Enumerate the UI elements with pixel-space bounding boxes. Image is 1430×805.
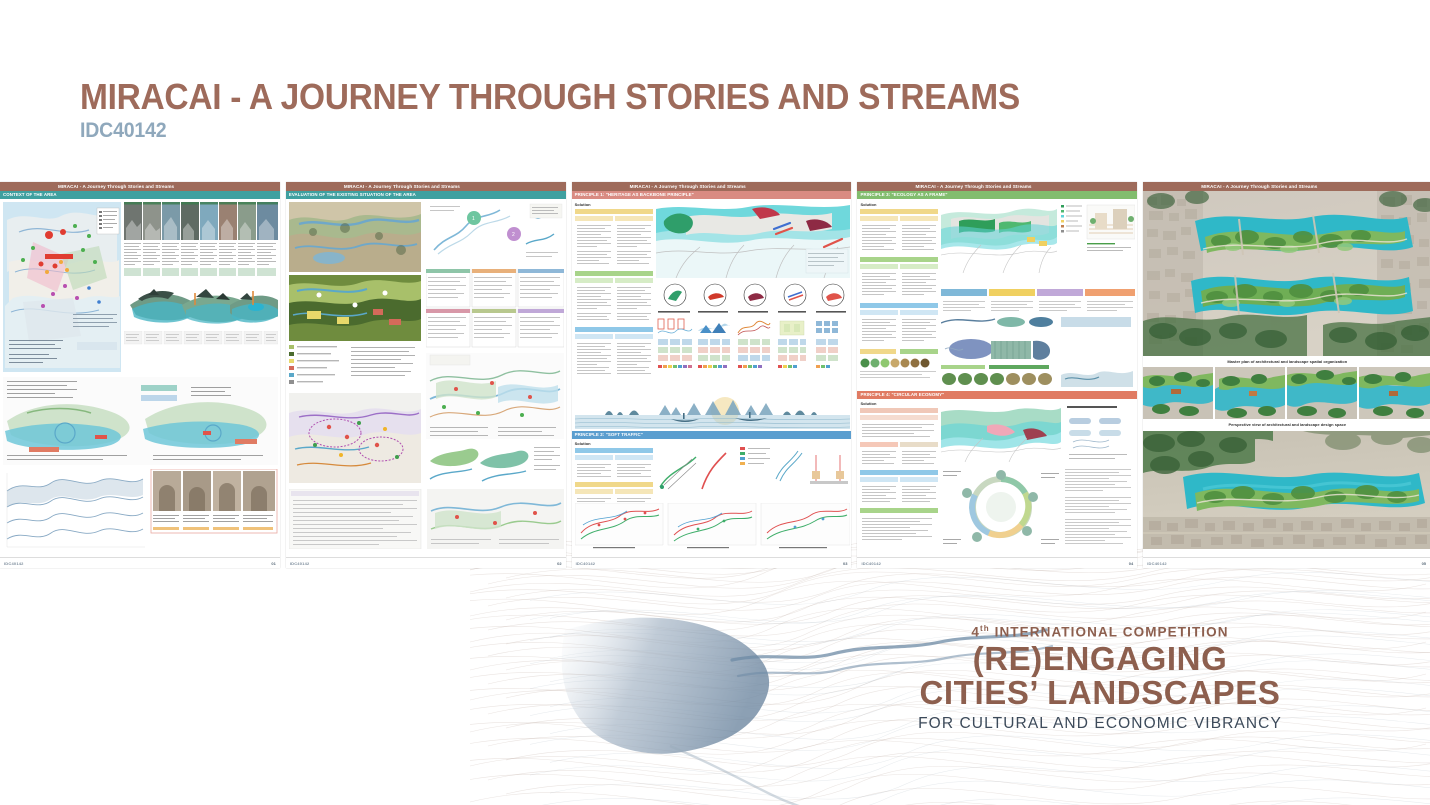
board-footer: IDC40142 03 — [572, 557, 852, 568]
masterplan-caption: Master plan of architectural and landsca… — [1143, 358, 1430, 366]
solution-label-p1: Solution — [575, 202, 591, 207]
svg-text:1: 1 — [472, 216, 475, 222]
board-header-title: MIRACAI - A Journey Through Stories and … — [857, 182, 1137, 191]
board-panel-03[interactable]: MIRACAI - A Journey Through Stories and … — [572, 182, 852, 568]
page-title: MIRACAI - A JOURNEY THROUGH STORIES AND … — [80, 78, 1196, 116]
competition-brand-lockup: 4th INTERNATIONAL COMPETITION (RE)ENGAGI… — [900, 624, 1300, 733]
brand-title-line-1: (RE)ENGAGING — [900, 642, 1300, 677]
section-bar-principle-3: PRINCIPLE 3: "ECOLOGY AS A FRAME" — [857, 191, 1137, 199]
evaluation-matrix-and-detail-map — [289, 489, 564, 549]
board-footer: IDC40142 05 — [1143, 557, 1430, 568]
competition-boards-strip: MIRACAI - A Journey Through Stories and … — [0, 182, 1430, 568]
principle-3-solution-column — [860, 209, 938, 387]
diagram-caption-boxes — [124, 331, 278, 345]
brand-tagline: FOR CULTURAL AND ECONOMIC VIBRANCY — [900, 715, 1300, 733]
board-panel-02[interactable]: MIRACAI - A Journey Through Stories and … — [286, 182, 566, 568]
footer-page-number: 05 — [1422, 561, 1426, 566]
site-section-diagrams — [3, 377, 278, 465]
competition-ordinal-suffix: th — [980, 624, 990, 633]
board-body: PRINCIPLE 1: "HERITAGE AS BACKBONE PRINC… — [572, 191, 852, 557]
board-body: PRINCIPLE 3: "ECOLOGY AS A FRAME" Soluti… — [857, 191, 1137, 557]
board-panel-01[interactable]: MIRACAI - A Journey Through Stories and … — [0, 182, 280, 568]
heritage-subdiagrams-grid — [656, 311, 850, 389]
footer-page-number: 02 — [557, 561, 561, 566]
context-text-columns — [124, 243, 278, 277]
footer-page-number: 03 — [843, 561, 847, 566]
analysis-map-violet — [289, 393, 421, 483]
brand-title-line-2: CITIES’ LANDSCAPES — [900, 676, 1300, 711]
wetland-filtration-section — [941, 331, 1135, 389]
regional-context-map — [3, 202, 121, 372]
principle-4-solution-column — [860, 408, 938, 548]
circular-economy-map — [941, 404, 1061, 462]
board-header-title: MIRACAI - A Journey Through Stories and … — [0, 182, 280, 191]
economy-notes-column — [1065, 467, 1135, 549]
board-body: CONTEXT OF THE AREA — [0, 191, 280, 557]
board-header-title: MIRACAI - A Journey Through Stories and … — [1143, 182, 1430, 191]
landuse-map — [289, 275, 421, 341]
svg-text:2: 2 — [512, 232, 515, 238]
board-footer: IDC40142 04 — [857, 557, 1137, 568]
traffic-route-maps — [575, 503, 850, 549]
perspective-render-row — [1143, 367, 1430, 419]
competition-label: INTERNATIONAL COMPETITION — [995, 625, 1229, 640]
principle-2-solution-column — [575, 448, 653, 508]
aerial-render-secondary — [1143, 431, 1430, 549]
principle-1-solution-column — [575, 209, 653, 389]
solution-label-p4: Solution — [860, 401, 876, 406]
section-bar-principle-2: PRINCIPLE 2: "SOFT TRAFFIC" — [572, 431, 852, 439]
competition-line: 4th INTERNATIONAL COMPETITION — [900, 624, 1300, 640]
section-bar-context: CONTEXT OF THE AREA — [0, 191, 280, 199]
site-analysis-map — [426, 353, 564, 439]
footer-page-number: 04 — [1129, 561, 1133, 566]
swot-matrix-table — [426, 269, 564, 349]
section-bar-principle-4: PRINCIPLE 4: "CIRCULAR ECONOMY" — [857, 391, 1137, 399]
green-network-diagrams — [426, 443, 564, 485]
heritage-masterplan-map — [656, 203, 850, 278]
aerial-masterplan-render — [1143, 191, 1430, 356]
elevation-charts-and-heritage-photos — [3, 469, 278, 549]
drone-delivery-diagram — [1065, 404, 1135, 462]
board-panel-05[interactable]: MIRACAI - A Journey Through Stories and … — [1143, 182, 1430, 568]
footer-code: IDC40142 — [576, 561, 596, 566]
footer-code: IDC40142 — [1147, 561, 1167, 566]
terrain-axonometric-diagrams — [124, 281, 278, 329]
board-footer: IDC40142 01 — [0, 557, 280, 568]
slide-header: MIRACAI - A JOURNEY THROUGH STORIES AND … — [80, 78, 1280, 141]
footer-code: IDC40142 — [290, 561, 310, 566]
footer-code: IDC40142 — [861, 561, 881, 566]
competition-ordinal: 4 — [971, 625, 980, 640]
board-panel-04[interactable]: MIRACAI - A Journey Through Stories and … — [857, 182, 1137, 568]
board-header-title: MIRACAI - A Journey Through Stories and … — [572, 182, 852, 191]
section-bar-evaluation: EVALUATION OF THE EXISTING SITUATION OF … — [286, 191, 566, 199]
board-body: Master plan of architectural and landsca… — [1143, 191, 1430, 557]
solution-label-p3: Solution — [860, 202, 876, 207]
context-photo-strip — [124, 202, 278, 240]
riverfront-silhouette-illustration — [575, 391, 850, 429]
page-subtitle-code: IDC40142 — [80, 120, 1196, 141]
heritage-category-icons — [656, 283, 850, 309]
flow-diagram-top: 12 — [426, 202, 564, 264]
circular-economy-wheel-diagram — [941, 467, 1061, 549]
satellite-context-map — [289, 202, 421, 272]
solution-label-p2: Solution — [575, 441, 591, 446]
footer-page-number: 01 — [271, 561, 275, 566]
building-typology-and-section — [941, 277, 1135, 329]
ecology-masterplan-map — [941, 203, 1057, 273]
ecology-legend-and-section — [1061, 203, 1135, 273]
board-footer: IDC40142 02 — [286, 557, 566, 568]
perspective-caption: Perspective view of architectural and la… — [1143, 421, 1430, 429]
traffic-network-diagrams — [656, 441, 850, 499]
landuse-legend — [289, 345, 421, 389]
section-bar-principle-1: PRINCIPLE 1: "HERITAGE AS BACKBONE PRINC… — [572, 191, 852, 199]
board-body: EVALUATION OF THE EXISTING SITUATION OF … — [286, 191, 566, 557]
footer-code: IDC40142 — [4, 561, 24, 566]
board-header-title: MIRACAI - A Journey Through Stories and … — [286, 182, 566, 191]
